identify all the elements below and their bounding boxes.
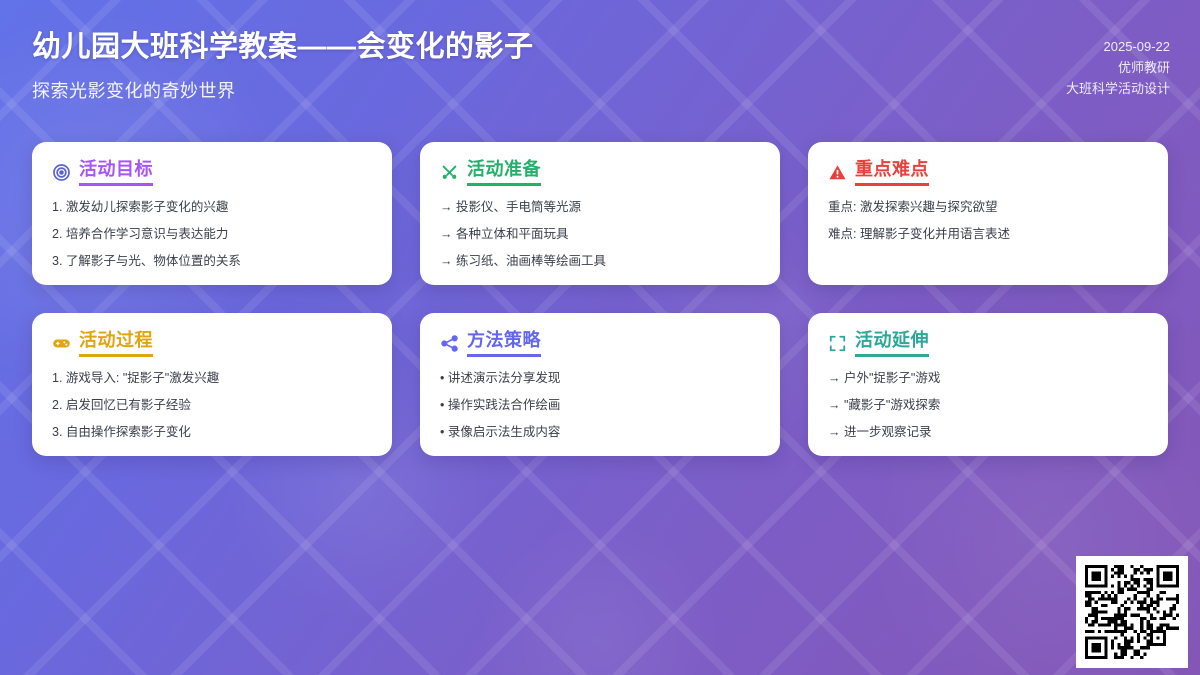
card-line: • 操作实践法合作绘画 bbox=[440, 397, 760, 414]
header-meta: 2025-09-22 优师教研 大班科学活动设计 bbox=[1066, 26, 1170, 99]
card-title: 活动延伸 bbox=[855, 330, 929, 357]
card-title: 活动目标 bbox=[79, 159, 153, 186]
card-line: 3. 了解影子与光、物体位置的关系 bbox=[52, 253, 372, 270]
card-line: → 进一步观察记录 bbox=[828, 424, 1148, 441]
meta-org: 优师教研 bbox=[1066, 57, 1170, 78]
card-title: 活动过程 bbox=[79, 330, 153, 357]
share-icon bbox=[440, 334, 459, 353]
page-subtitle: 探索光影变化的奇妙世界 bbox=[32, 77, 534, 103]
card-process: 活动过程 1. 游戏导入: "捉影子"激发兴趣 2. 启发回忆已有影子经验 3.… bbox=[32, 313, 392, 456]
card-grid: 活动目标 1. 激发幼儿探索影子变化的兴趣 2. 培养合作学习意识与表达能力 3… bbox=[32, 142, 1168, 456]
card-header: 方法策略 bbox=[440, 330, 760, 357]
presentation-slide: 幼儿园大班科学教案——会变化的影子 探索光影变化的奇妙世界 2025-09-22… bbox=[0, 0, 1200, 675]
card-header: 活动目标 bbox=[52, 159, 372, 186]
card-title: 方法策略 bbox=[467, 330, 541, 357]
card-goal: 活动目标 1. 激发幼儿探索影子变化的兴趣 2. 培养合作学习意识与表达能力 3… bbox=[32, 142, 392, 285]
card-title: 重点难点 bbox=[855, 159, 929, 186]
card-line: → "藏影子"游戏探索 bbox=[828, 397, 1148, 414]
tools-icon bbox=[440, 163, 459, 182]
card-title: 活动准备 bbox=[467, 159, 541, 186]
card-line: • 讲述演示法分享发现 bbox=[440, 370, 760, 387]
card-body: 重点: 激发探索兴趣与探究欲望 难点: 理解影子变化并用语言表述 bbox=[828, 199, 1148, 243]
gamepad-icon bbox=[52, 334, 71, 353]
card-header: 活动准备 bbox=[440, 159, 760, 186]
card-line: 难点: 理解影子变化并用语言表述 bbox=[828, 226, 1148, 243]
qr-code[interactable] bbox=[1076, 556, 1188, 668]
slide-header: 幼儿园大班科学教案——会变化的影子 探索光影变化的奇妙世界 2025-09-22… bbox=[0, 0, 1200, 130]
card-line: 2. 启发回忆已有影子经验 bbox=[52, 397, 372, 414]
card-header: 活动延伸 bbox=[828, 330, 1148, 357]
expand-brackets-icon bbox=[828, 334, 847, 353]
card-line: → 练习纸、油画棒等绘画工具 bbox=[440, 253, 760, 270]
card-line: 2. 培养合作学习意识与表达能力 bbox=[52, 226, 372, 243]
card-body: 1. 激发幼儿探索影子变化的兴趣 2. 培养合作学习意识与表达能力 3. 了解影… bbox=[52, 199, 372, 271]
meta-date: 2025-09-22 bbox=[1066, 36, 1170, 57]
card-header: 活动过程 bbox=[52, 330, 372, 357]
card-line: 1. 游戏导入: "捉影子"激发兴趣 bbox=[52, 370, 372, 387]
card-method: 方法策略 • 讲述演示法分享发现 • 操作实践法合作绘画 • 录像启示法生成内容 bbox=[420, 313, 780, 456]
warning-triangle-icon bbox=[828, 163, 847, 182]
card-line: • 录像启示法生成内容 bbox=[440, 424, 760, 441]
target-icon bbox=[52, 163, 71, 182]
meta-category: 大班科学活动设计 bbox=[1066, 78, 1170, 99]
qr-code-image bbox=[1085, 565, 1179, 659]
card-body: → 户外"捉影子"游戏 → "藏影子"游戏探索 → 进一步观察记录 bbox=[828, 370, 1148, 442]
card-line: 重点: 激发探索兴趣与探究欲望 bbox=[828, 199, 1148, 216]
card-focus: 重点难点 重点: 激发探索兴趣与探究欲望 难点: 理解影子变化并用语言表述 bbox=[808, 142, 1168, 285]
card-line: 3. 自由操作探索影子变化 bbox=[52, 424, 372, 441]
card-line: → 户外"捉影子"游戏 bbox=[828, 370, 1148, 387]
card-body: • 讲述演示法分享发现 • 操作实践法合作绘画 • 录像启示法生成内容 bbox=[440, 370, 760, 442]
card-extend: 活动延伸 → 户外"捉影子"游戏 → "藏影子"游戏探索 → 进一步观察记录 bbox=[808, 313, 1168, 456]
card-body: 1. 游戏导入: "捉影子"激发兴趣 2. 启发回忆已有影子经验 3. 自由操作… bbox=[52, 370, 372, 442]
card-header: 重点难点 bbox=[828, 159, 1148, 186]
page-title: 幼儿园大班科学教案——会变化的影子 bbox=[32, 30, 534, 65]
card-line: → 投影仪、手电筒等光源 bbox=[440, 199, 760, 216]
card-body: → 投影仪、手电筒等光源 → 各种立体和平面玩具 → 练习纸、油画棒等绘画工具 bbox=[440, 199, 760, 271]
card-line: 1. 激发幼儿探索影子变化的兴趣 bbox=[52, 199, 372, 216]
title-block: 幼儿园大班科学教案——会变化的影子 探索光影变化的奇妙世界 bbox=[32, 26, 534, 103]
card-line: → 各种立体和平面玩具 bbox=[440, 226, 760, 243]
card-prep: 活动准备 → 投影仪、手电筒等光源 → 各种立体和平面玩具 → 练习纸、油画棒等… bbox=[420, 142, 780, 285]
